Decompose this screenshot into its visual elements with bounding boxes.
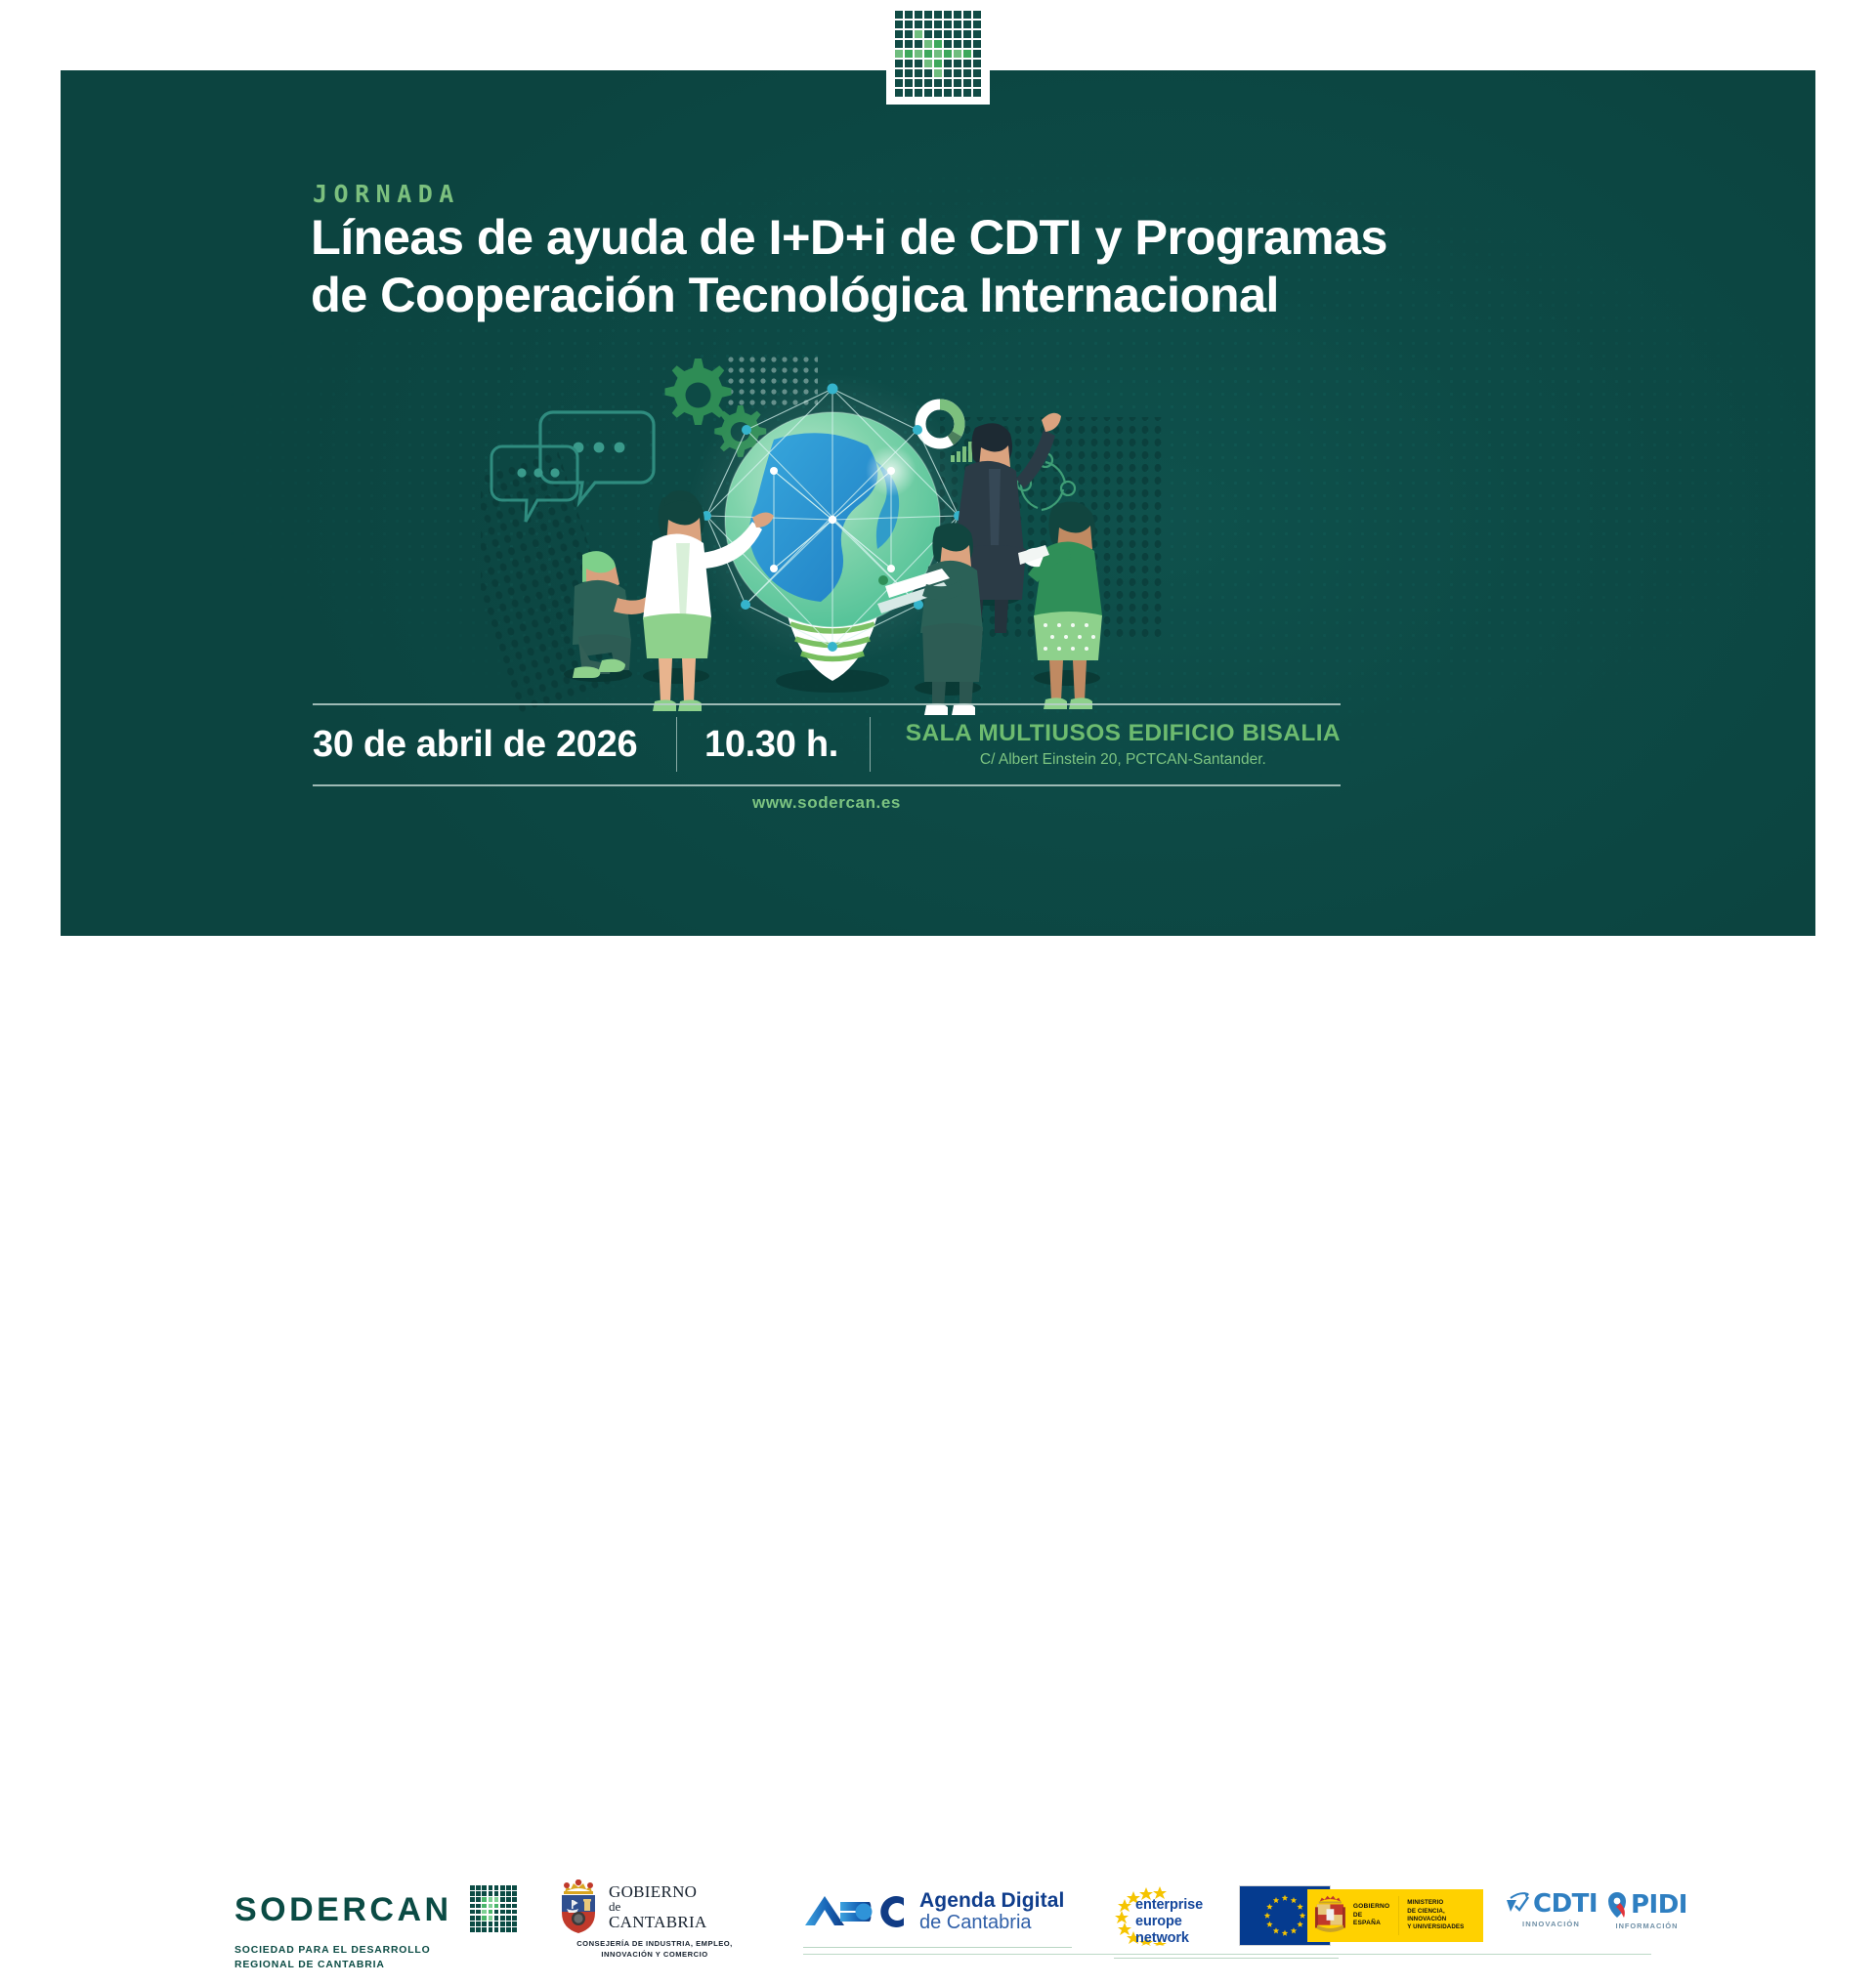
poster-panel: JORNADA Líneas de ayuda de I+D+i de CDTI… [61, 70, 1815, 936]
grid-cell [963, 89, 971, 97]
eu-star [1300, 1913, 1305, 1919]
grid-cell [905, 60, 913, 67]
pixel-cell [470, 1885, 475, 1890]
espana-line2: DE ESPAÑA [1353, 1912, 1390, 1928]
grid-cell [944, 69, 952, 77]
gobierno-de-cantabria-logo: GOBIERNO de CANTABRIA CONSEJERÍA DE INDU… [557, 1879, 752, 1960]
espana-wordmark: GOBIERNO DE ESPAÑA [1353, 1903, 1390, 1928]
pixel-cell [512, 1891, 517, 1896]
grid-cell [915, 30, 922, 38]
grid-cell [963, 69, 971, 77]
gobierno-line2: de [609, 1900, 707, 1913]
agenda-line2: de Cantabria [919, 1912, 1064, 1933]
adc-mark-icon [803, 1890, 909, 1933]
eu-star [1264, 1913, 1270, 1919]
pixel-cell [470, 1897, 475, 1902]
grid-cell [963, 11, 971, 19]
sodercan-tagline-line1: SOCIEDAD PARA EL DESARROLLO [234, 1943, 567, 1958]
grid-cell [934, 11, 942, 19]
grid-cell [944, 60, 952, 67]
pixel-cell [489, 1897, 493, 1902]
pixel-cell [489, 1891, 493, 1896]
sodercan-wordmark: SODERCAN [234, 1893, 452, 1926]
grid-cell [934, 69, 942, 77]
pixel-cell [470, 1904, 475, 1909]
grid-cell [973, 89, 981, 97]
pixel-cell [500, 1891, 505, 1896]
consejeria-line1: CONSEJERÍA DE INDUSTRIA, EMPLEO, [557, 1939, 752, 1950]
grid-cell [905, 89, 913, 97]
grid-cell [963, 60, 971, 67]
pixel-cell [506, 1897, 511, 1902]
enterprise-europe-network-logo: enterprise europe network [1114, 1885, 1229, 1946]
grid-cell [924, 40, 932, 48]
gobierno-de-cantabria-names: GOBIERNO de CANTABRIA [609, 1883, 707, 1930]
pixel-cell [512, 1904, 517, 1909]
ministerio-line2: DE CIENCIA, INNOVACIÓN [1407, 1908, 1483, 1924]
grid-cell [954, 21, 961, 28]
een-and-eu-group: enterprise europe network [1114, 1885, 1339, 1959]
grid-cell [973, 79, 981, 87]
pixel-cell [512, 1916, 517, 1921]
pixel-cell [489, 1927, 493, 1932]
gobierno-line3: CANTABRIA [609, 1914, 707, 1931]
event-info-strip: 30 de abril de 2026 10.30 h. SALA MULTIU… [313, 705, 1341, 783]
grid-cell [895, 89, 903, 97]
grid-cell [934, 21, 942, 28]
pixel-cell [506, 1916, 511, 1921]
pidi-location-pin-icon [1606, 1891, 1628, 1919]
grid-cell [905, 79, 913, 87]
grid-cell [954, 11, 961, 19]
cdti-check-arrow-icon [1505, 1891, 1530, 1917]
grid-cell [905, 30, 913, 38]
pixel-cell [494, 1897, 499, 1902]
event-poster: JORNADA Líneas de ayuda de I+D+i de CDTI… [0, 0, 1876, 1055]
pixel-cell [470, 1916, 475, 1921]
grid-cell [895, 30, 903, 38]
pixel-cell [489, 1885, 493, 1890]
grid-cell [934, 89, 942, 97]
een-wordmark: enterprise europe network [1135, 1897, 1203, 1947]
grid-cell [895, 40, 903, 48]
pixel-cell [489, 1910, 493, 1915]
pixel-cell [489, 1916, 493, 1921]
grid-cell [924, 21, 932, 28]
pidi-logo: PIDI INFORMACIÓN [1606, 1891, 1687, 1930]
eu-star [1297, 1904, 1302, 1910]
pixel-cell [482, 1897, 487, 1902]
footer-logo-bar: SODERCAN SOCIEDAD PARA EL DESARROLLO REG… [0, 936, 1876, 1055]
grid-cell [915, 11, 922, 19]
pixel-cell [489, 1922, 493, 1926]
pixel-cell [482, 1927, 487, 1932]
pixel-cell [489, 1904, 493, 1909]
grid-cell [895, 60, 903, 67]
consejeria-line2: INNOVACIÓN Y COMERCIO [557, 1950, 752, 1961]
pixel-cell [476, 1885, 481, 1890]
event-venue: SALA MULTIUSOS EDIFICIO BISALIA C/ Alber… [871, 720, 1341, 769]
pixel-cell [482, 1885, 487, 1890]
grid-cell [934, 50, 942, 58]
pixel-cell [494, 1927, 499, 1932]
venue-name: SALA MULTIUSOS EDIFICIO BISALIA [906, 720, 1341, 747]
sodercan-grid-mark [886, 0, 990, 105]
pixel-cell [494, 1904, 499, 1909]
footer-divider [803, 1954, 1651, 1955]
grid-cell [973, 50, 981, 58]
grid-cell [963, 40, 971, 48]
pixel-cell [512, 1885, 517, 1890]
pixel-cell [470, 1891, 475, 1896]
pixel-cell [470, 1922, 475, 1926]
grid-cell [924, 11, 932, 19]
grid-cell [954, 40, 961, 48]
grid-cell [915, 50, 922, 58]
divider-bottom [313, 784, 1341, 786]
pixel-cell [506, 1885, 511, 1890]
grid-cell [944, 79, 952, 87]
een-line1: enterprise [1135, 1897, 1203, 1914]
pixel-cell [512, 1897, 517, 1902]
grid-cell [944, 89, 952, 97]
grid-cell [924, 60, 932, 67]
cantabria-coat-of-arms-icon [557, 1879, 600, 1934]
grid-cell [895, 50, 903, 58]
eu-star [1273, 1897, 1279, 1903]
grid-cell [924, 50, 932, 58]
grid-cell [915, 21, 922, 28]
grid-cell [895, 11, 903, 19]
pixel-cell [494, 1916, 499, 1921]
grid-cell [944, 40, 952, 48]
grid-cell [963, 21, 971, 28]
pixel-cell [494, 1885, 499, 1890]
pixel-cell [500, 1885, 505, 1890]
eu-star [1297, 1922, 1302, 1927]
website-link[interactable]: www.sodercan.es [313, 793, 1341, 813]
grid-cell [934, 60, 942, 67]
grid-cell [954, 69, 961, 77]
page-title-line1: Líneas de ayuda de I+D+i de CDTI y Progr… [311, 209, 1387, 265]
sodercan-tagline: SOCIEDAD PARA EL DESARROLLO REGIONAL DE … [234, 1943, 567, 1972]
event-time: 10.30 h. [677, 724, 870, 766]
pixel-cell [494, 1910, 499, 1915]
pixel-cell [500, 1904, 505, 1909]
grid-cell [954, 79, 961, 87]
grid-cell [954, 30, 961, 38]
pixel-cell [506, 1891, 511, 1896]
pixel-cell [500, 1927, 505, 1932]
eu-star [1291, 1897, 1297, 1903]
een-line2: europe [1135, 1914, 1203, 1930]
sodercan-pixel-grid-icon [470, 1885, 517, 1932]
spain-coat-of-arms-icon [1314, 1895, 1346, 1936]
grid-cell [963, 50, 971, 58]
ministerio-wordmark: MINISTERIO DE CIENCIA, INNOVACIÓN Y UNIV… [1407, 1899, 1483, 1931]
grid-cell [963, 79, 971, 87]
grid-cell [905, 40, 913, 48]
pixel-cell [470, 1927, 475, 1932]
poster-kicker: JORNADA [313, 180, 460, 208]
pidi-subtitle: INFORMACIÓN [1606, 1922, 1687, 1930]
eu-star [1282, 1895, 1288, 1901]
grid-cell [973, 30, 981, 38]
pixel-cell [476, 1904, 481, 1909]
agenda-underline [803, 1947, 1072, 1948]
page-title-line2: de Cooperación Tecnológica Internacional [311, 267, 1405, 324]
pixel-cell [506, 1922, 511, 1926]
pixel-cell [512, 1910, 517, 1915]
page-title: Líneas de ayuda de I+D+i de CDTI y Progr… [311, 209, 1405, 323]
speech-bubble-small-dots [517, 468, 559, 477]
grid-cell [934, 79, 942, 87]
grid-cell [915, 89, 922, 97]
grid-cell [924, 69, 932, 77]
pixel-cell [494, 1922, 499, 1926]
sodercan-logo: SODERCAN SOCIEDAD PARA EL DESARROLLO REG… [234, 1885, 567, 1972]
mesh-highlight-glow [866, 445, 917, 496]
pixel-cell [470, 1910, 475, 1915]
ministerio-line1: MINISTERIO [1407, 1899, 1483, 1907]
consejeria-subtitle: CONSEJERÍA DE INDUSTRIA, EMPLEO, INNOVAC… [557, 1939, 752, 1960]
een-line3: network [1135, 1930, 1203, 1947]
venue-address: C/ Albert Einstein 20, PCTCAN-Santander. [906, 751, 1341, 769]
grid-cell [944, 11, 952, 19]
gobierno-de-espana-logo: GOBIERNO DE ESPAÑA MINISTERIO DE CIENCIA… [1307, 1889, 1483, 1942]
eu-star [1291, 1927, 1297, 1933]
pixel-cell [482, 1904, 487, 1909]
grid-cell [973, 11, 981, 19]
gobierno-line1: GOBIERNO [609, 1883, 707, 1901]
grid-cell [915, 40, 922, 48]
pixel-cell [500, 1916, 505, 1921]
pixel-cell [512, 1922, 517, 1926]
grid-mark-cells [895, 11, 981, 97]
pixel-cell [506, 1910, 511, 1915]
espana-line1: GOBIERNO [1353, 1903, 1390, 1912]
grid-cell [944, 21, 952, 28]
agenda-digital-de-cantabria-logo: Agenda Digital de Cantabria [803, 1889, 1072, 1948]
eu-star [1282, 1930, 1288, 1936]
eu-star [1266, 1904, 1272, 1910]
sodercan-tagline-line2: REGIONAL DE CANTABRIA [234, 1958, 567, 1972]
pixel-cell [476, 1897, 481, 1902]
pixel-cell [482, 1910, 487, 1915]
pixel-cell [494, 1891, 499, 1896]
grid-cell [905, 21, 913, 28]
cdti-wordmark: CDTI [1533, 1891, 1598, 1917]
pixel-cell [506, 1927, 511, 1932]
grid-cell [895, 21, 903, 28]
grid-cell [973, 69, 981, 77]
grid-cell [934, 40, 942, 48]
een-underline [1114, 1958, 1339, 1959]
divider-vertical [870, 717, 871, 772]
espana-divider [1398, 1896, 1399, 1935]
pidi-wordmark: PIDI [1631, 1892, 1687, 1918]
ministerio-line3: Y UNIVERSIDADES [1407, 1923, 1483, 1931]
pixel-cell [512, 1927, 517, 1932]
grid-cell [924, 79, 932, 87]
grid-cell [905, 11, 913, 19]
grid-cell [973, 21, 981, 28]
pixel-cell [500, 1922, 505, 1926]
pixel-cell [476, 1922, 481, 1926]
pixel-cell [476, 1916, 481, 1921]
grid-cell [973, 40, 981, 48]
grid-cell [963, 30, 971, 38]
pixel-cell [506, 1904, 511, 1909]
agenda-line1: Agenda Digital [919, 1889, 1064, 1912]
grid-cell [934, 30, 942, 38]
pixel-cell [482, 1916, 487, 1921]
divider-vertical [676, 717, 677, 772]
event-date: 30 de abril de 2026 [313, 724, 676, 766]
pixel-cell [476, 1927, 481, 1932]
pixel-cell [482, 1922, 487, 1926]
pixel-cell [500, 1910, 505, 1915]
pixel-cell [500, 1897, 505, 1902]
grid-cell [895, 79, 903, 87]
global-innovation-illustration [481, 324, 1165, 715]
eu-star [1266, 1922, 1272, 1927]
grid-cell [944, 30, 952, 38]
grid-cell [954, 60, 961, 67]
pixel-cell [476, 1891, 481, 1896]
grid-cell [924, 30, 932, 38]
cdti-subtitle: INNOVACIÓN [1505, 1920, 1598, 1928]
pixel-cell [476, 1910, 481, 1915]
grid-cell [924, 89, 932, 97]
grid-cell [915, 60, 922, 67]
speech-bubble-large-dots [574, 443, 625, 453]
cdti-logo: CDTI INNOVACIÓN [1505, 1891, 1598, 1928]
grid-cell [905, 69, 913, 77]
agenda-digital-text: Agenda Digital de Cantabria [919, 1889, 1064, 1933]
grid-cell [915, 79, 922, 87]
pixel-cell [482, 1891, 487, 1896]
grid-cell [915, 69, 922, 77]
grid-cell [973, 60, 981, 67]
grid-cell [954, 50, 961, 58]
crown [564, 1879, 593, 1894]
eu-star [1273, 1927, 1279, 1933]
grid-cell [954, 89, 961, 97]
grid-cell [895, 69, 903, 77]
grid-cell [944, 50, 952, 58]
grid-cell [905, 50, 913, 58]
